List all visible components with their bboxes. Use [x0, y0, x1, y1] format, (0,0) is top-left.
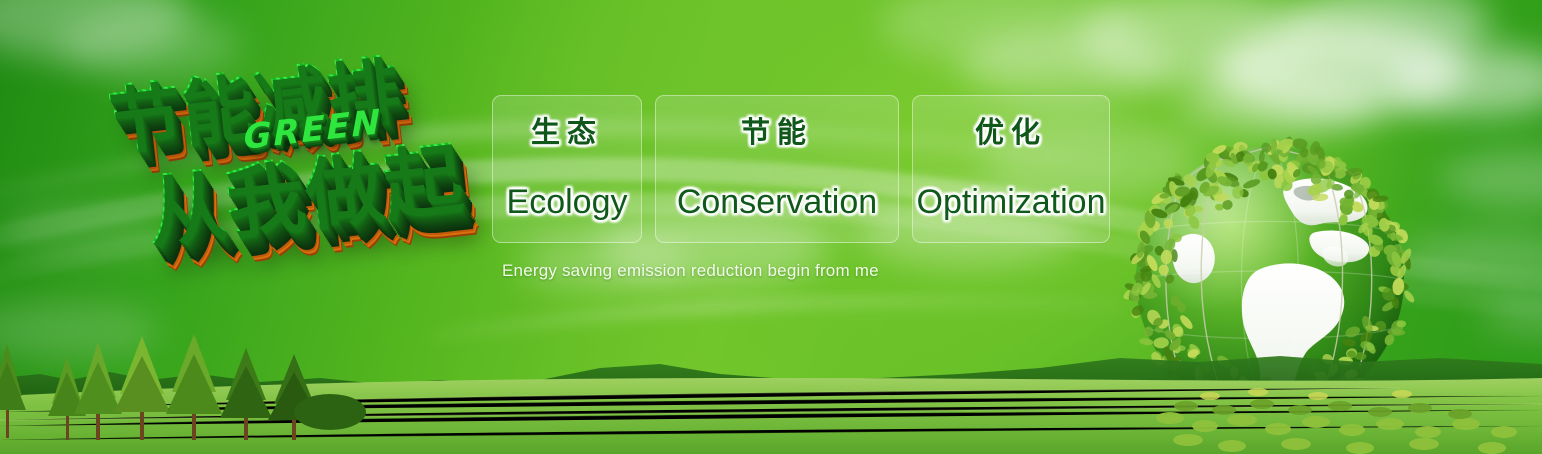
feature-card-en-label: Conservation [677, 185, 877, 219]
cloud-shape [1480, 290, 1542, 338]
feature-card-cn-label: 生态 [531, 118, 603, 147]
feature-card-cn-label: 优化 [975, 118, 1047, 147]
feature-card-group: 生态 Ecology 节能 Conservation 优化 Optimizati… [492, 95, 1110, 243]
cloud-shape [1215, 24, 1465, 116]
cloud-shape [1080, 0, 1320, 86]
feature-card-en-label: Ecology [507, 185, 628, 219]
feature-card-cn-label: 节能 [741, 118, 813, 147]
eco-banner: 节能减排 从我做起 GREEN 生态 Ecology 节能 Conservati… [0, 0, 1542, 454]
cloud-shape [1440, 150, 1542, 208]
cloud-shape [960, 30, 1170, 100]
tagline: Energy saving emission reduction begin f… [502, 261, 879, 281]
shrub [294, 394, 366, 430]
feature-card-conservation[interactable]: 节能 Conservation [655, 95, 899, 243]
cloud-shape [1400, 230, 1542, 286]
cloud-shape [1290, 0, 1490, 62]
cloud-shape [880, 0, 1140, 66]
feature-card-en-label: Optimization [917, 185, 1106, 219]
feature-card-ecology[interactable]: 生态 Ecology [492, 95, 642, 243]
logo-3d: 节能减排 从我做起 GREEN [84, 12, 509, 296]
cloud-shape [1390, 46, 1542, 116]
cloud-shape [1180, 74, 1380, 136]
ivy-leaf [1397, 320, 1406, 327]
ivy-leaf [1402, 289, 1416, 304]
feature-card-optimization[interactable]: 优化 Optimization [912, 95, 1110, 243]
landscape-layer [0, 334, 1542, 454]
